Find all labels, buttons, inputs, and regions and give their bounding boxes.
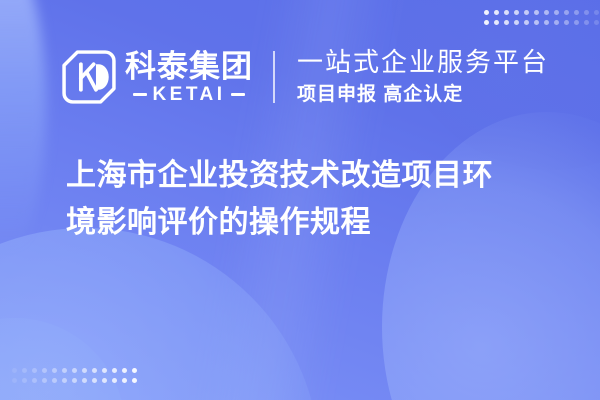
decorative-dot bbox=[112, 368, 117, 373]
dot-grid-bottom-left bbox=[12, 368, 137, 383]
tagline-main: 一站式企业服务平台 bbox=[297, 46, 549, 79]
banner-title-line-1: 上海市企业投资技术改造项目环 bbox=[66, 152, 544, 199]
decorative-dot bbox=[494, 10, 499, 15]
decorative-dot bbox=[92, 378, 97, 383]
decorative-dot bbox=[594, 20, 599, 25]
bottom-left-corner-blob bbox=[0, 318, 125, 400]
decorative-dot bbox=[82, 378, 87, 383]
promo-banner: 科泰集团 KETAI 一站式企业服务平台 项目申报 高企认定 上海市企业投资技术… bbox=[0, 0, 600, 400]
decorative-dot bbox=[514, 20, 519, 25]
decorative-dot bbox=[52, 378, 57, 383]
dot-row bbox=[12, 368, 137, 373]
banner-title-line-2: 境影响评价的操作规程 bbox=[66, 199, 544, 246]
decorative-dot bbox=[62, 378, 67, 383]
decorative-dot bbox=[504, 20, 509, 25]
decorative-dot bbox=[122, 378, 127, 383]
banner-title: 上海市企业投资技术改造项目环 境影响评价的操作规程 bbox=[66, 152, 544, 246]
ketai-diamond-kd-logo-icon bbox=[60, 48, 118, 106]
logo-dash-right bbox=[231, 93, 245, 96]
decorative-dot bbox=[524, 10, 529, 15]
decorative-dot bbox=[12, 378, 17, 383]
decorative-dot bbox=[534, 20, 539, 25]
decorative-dot bbox=[102, 378, 107, 383]
decorative-dot bbox=[22, 378, 27, 383]
tagline-sub: 项目申报 高企认定 bbox=[297, 82, 549, 108]
decorative-dot bbox=[484, 20, 489, 25]
decorative-dot bbox=[534, 10, 539, 15]
decorative-dot bbox=[544, 20, 549, 25]
logo-company-name-latin: KETAI bbox=[152, 85, 225, 104]
decorative-dot bbox=[112, 378, 117, 383]
decorative-dot bbox=[544, 10, 549, 15]
decorative-dot bbox=[12, 368, 17, 373]
decorative-dot bbox=[584, 20, 589, 25]
decorative-dot bbox=[514, 10, 519, 15]
brand-logo[interactable]: 科泰集团 KETAI bbox=[60, 48, 253, 106]
decorative-dot bbox=[524, 20, 529, 25]
decorative-dot bbox=[62, 368, 67, 373]
decorative-dot bbox=[564, 10, 569, 15]
decorative-dot bbox=[554, 20, 559, 25]
decorative-dot bbox=[32, 368, 37, 373]
decorative-dot bbox=[72, 368, 77, 373]
decorative-dot bbox=[52, 368, 57, 373]
decorative-dot bbox=[82, 368, 87, 373]
decorative-dot bbox=[72, 378, 77, 383]
decorative-dot bbox=[564, 20, 569, 25]
decorative-dot bbox=[554, 10, 559, 15]
decorative-dot bbox=[584, 10, 589, 15]
logo-latin-row: KETAI bbox=[133, 85, 244, 104]
decorative-dot bbox=[574, 10, 579, 15]
decorative-dot bbox=[484, 10, 489, 15]
logo-company-name-cn: 科泰集团 bbox=[125, 50, 253, 83]
decorative-dot bbox=[504, 10, 509, 15]
decorative-dot bbox=[102, 368, 107, 373]
decorative-dot bbox=[132, 368, 137, 373]
dot-row bbox=[484, 10, 600, 15]
decorative-dot bbox=[594, 10, 599, 15]
logo-dash-left bbox=[133, 93, 147, 96]
decorative-dot bbox=[32, 378, 37, 383]
decorative-dot bbox=[92, 368, 97, 373]
decorative-dot bbox=[42, 368, 47, 373]
logo-wordmark: 科泰集团 KETAI bbox=[125, 50, 253, 104]
decorative-dot bbox=[132, 378, 137, 383]
decorative-dot bbox=[574, 20, 579, 25]
left-light-band bbox=[0, 0, 46, 250]
decorative-dot bbox=[122, 368, 127, 373]
decorative-dot bbox=[42, 378, 47, 383]
dot-row bbox=[12, 378, 137, 383]
dot-row bbox=[484, 20, 600, 25]
dot-grid-top-right bbox=[484, 10, 600, 25]
banner-header: 科泰集团 KETAI 一站式企业服务平台 项目申报 高企认定 bbox=[60, 40, 549, 114]
decorative-dot bbox=[22, 368, 27, 373]
decorative-dot bbox=[494, 20, 499, 25]
header-vertical-divider bbox=[273, 51, 275, 103]
tagline-block: 一站式企业服务平台 项目申报 高企认定 bbox=[297, 46, 549, 108]
